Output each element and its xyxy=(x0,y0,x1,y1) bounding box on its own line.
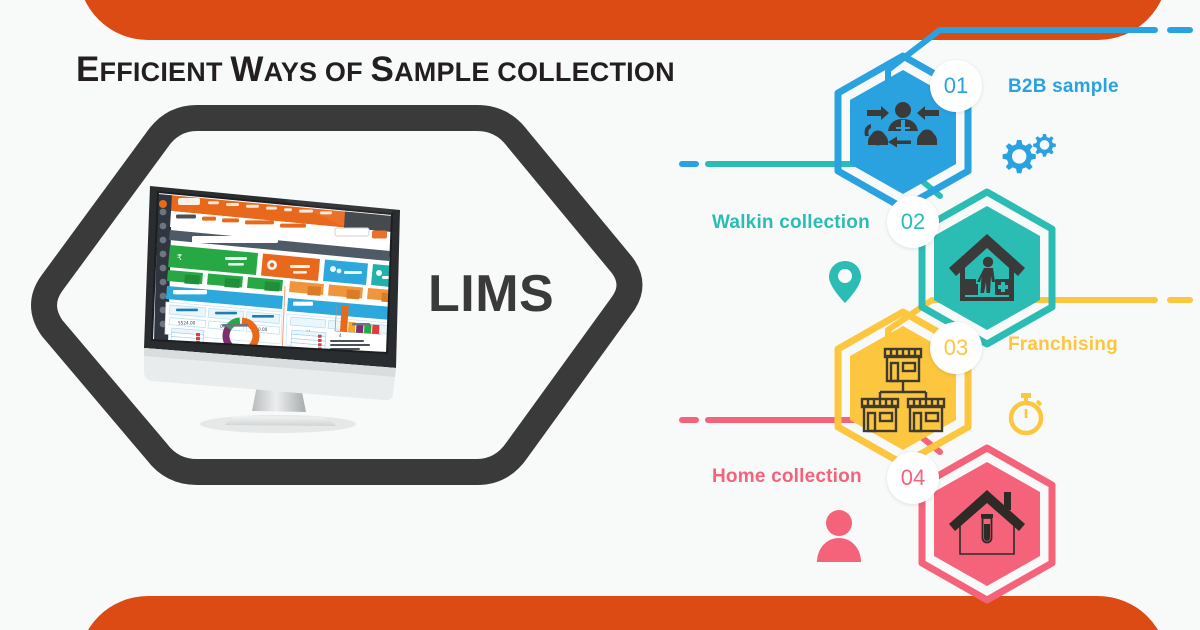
step-badge-04: 04 xyxy=(887,452,939,504)
step-badge-01: 01 xyxy=(930,60,982,112)
map-pin-icon xyxy=(825,258,865,311)
infographic-canvas: EFFICIENT WAYS OF SAMPLE COLLECTION LIMS xyxy=(0,0,1200,630)
step-label-02: Walkin collection xyxy=(712,212,870,234)
step-number: 01 xyxy=(944,73,968,99)
step-badge-03: 03 xyxy=(930,322,982,374)
step-label-04: Home collection xyxy=(712,466,862,488)
gears-icon xyxy=(995,130,1060,185)
step-number: 03 xyxy=(944,335,968,361)
step-number: 02 xyxy=(901,209,925,235)
svg-text:0.00: 0.00 xyxy=(258,327,268,332)
step-label-03: Franchising xyxy=(1008,334,1118,356)
step-number: 04 xyxy=(901,465,925,491)
desktop-monitor-mockup: ₹ xyxy=(130,168,430,438)
steps-column: 01 B2B sample xyxy=(650,0,1200,630)
svg-text:₹: ₹ xyxy=(177,253,182,262)
person-icon xyxy=(815,508,863,569)
svg-text:5524.00: 5524.00 xyxy=(178,320,196,325)
step-badge-02: 02 xyxy=(887,196,939,248)
stopwatch-icon xyxy=(1002,388,1050,445)
lab-stats-panel: 31 4 xyxy=(286,298,392,354)
step-label-01: B2B sample xyxy=(1008,76,1119,98)
page-title: EFFICIENT WAYS OF SAMPLE COLLECTION xyxy=(76,50,675,90)
